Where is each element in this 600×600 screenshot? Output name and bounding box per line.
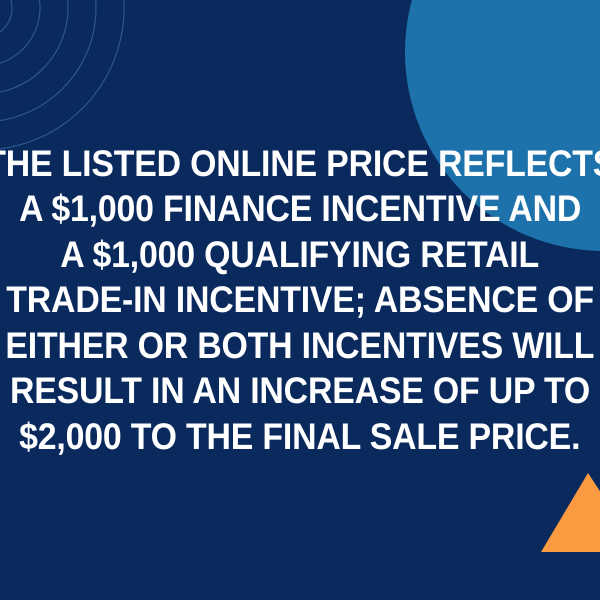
- headline-line-3: A $1,000 QUALIFYING RETAIL: [61, 232, 540, 278]
- headline-line-6: RESULT IN AN INCREASE OF UP TO: [10, 368, 590, 414]
- headline-line-2: A $1,000 FINANCE INCENTIVE AND: [19, 186, 581, 232]
- headline-line-5: EITHER OR BOTH INCENTIVES WILL: [6, 323, 595, 369]
- headline-line-7: $2,000 TO THE FINAL SALE PRICE.: [19, 414, 580, 460]
- headline-line-1: THE LISTED ONLINE PRICE REFLECTS: [0, 141, 600, 187]
- headline-line-4: TRADE-IN INCENTIVE; ABSENCE OF: [6, 277, 594, 323]
- headline-text-block: THE LISTED ONLINE PRICE REFLECTS A $1,00…: [0, 0, 600, 600]
- promotional-disclaimer-banner: THE LISTED ONLINE PRICE REFLECTS A $1,00…: [0, 0, 600, 600]
